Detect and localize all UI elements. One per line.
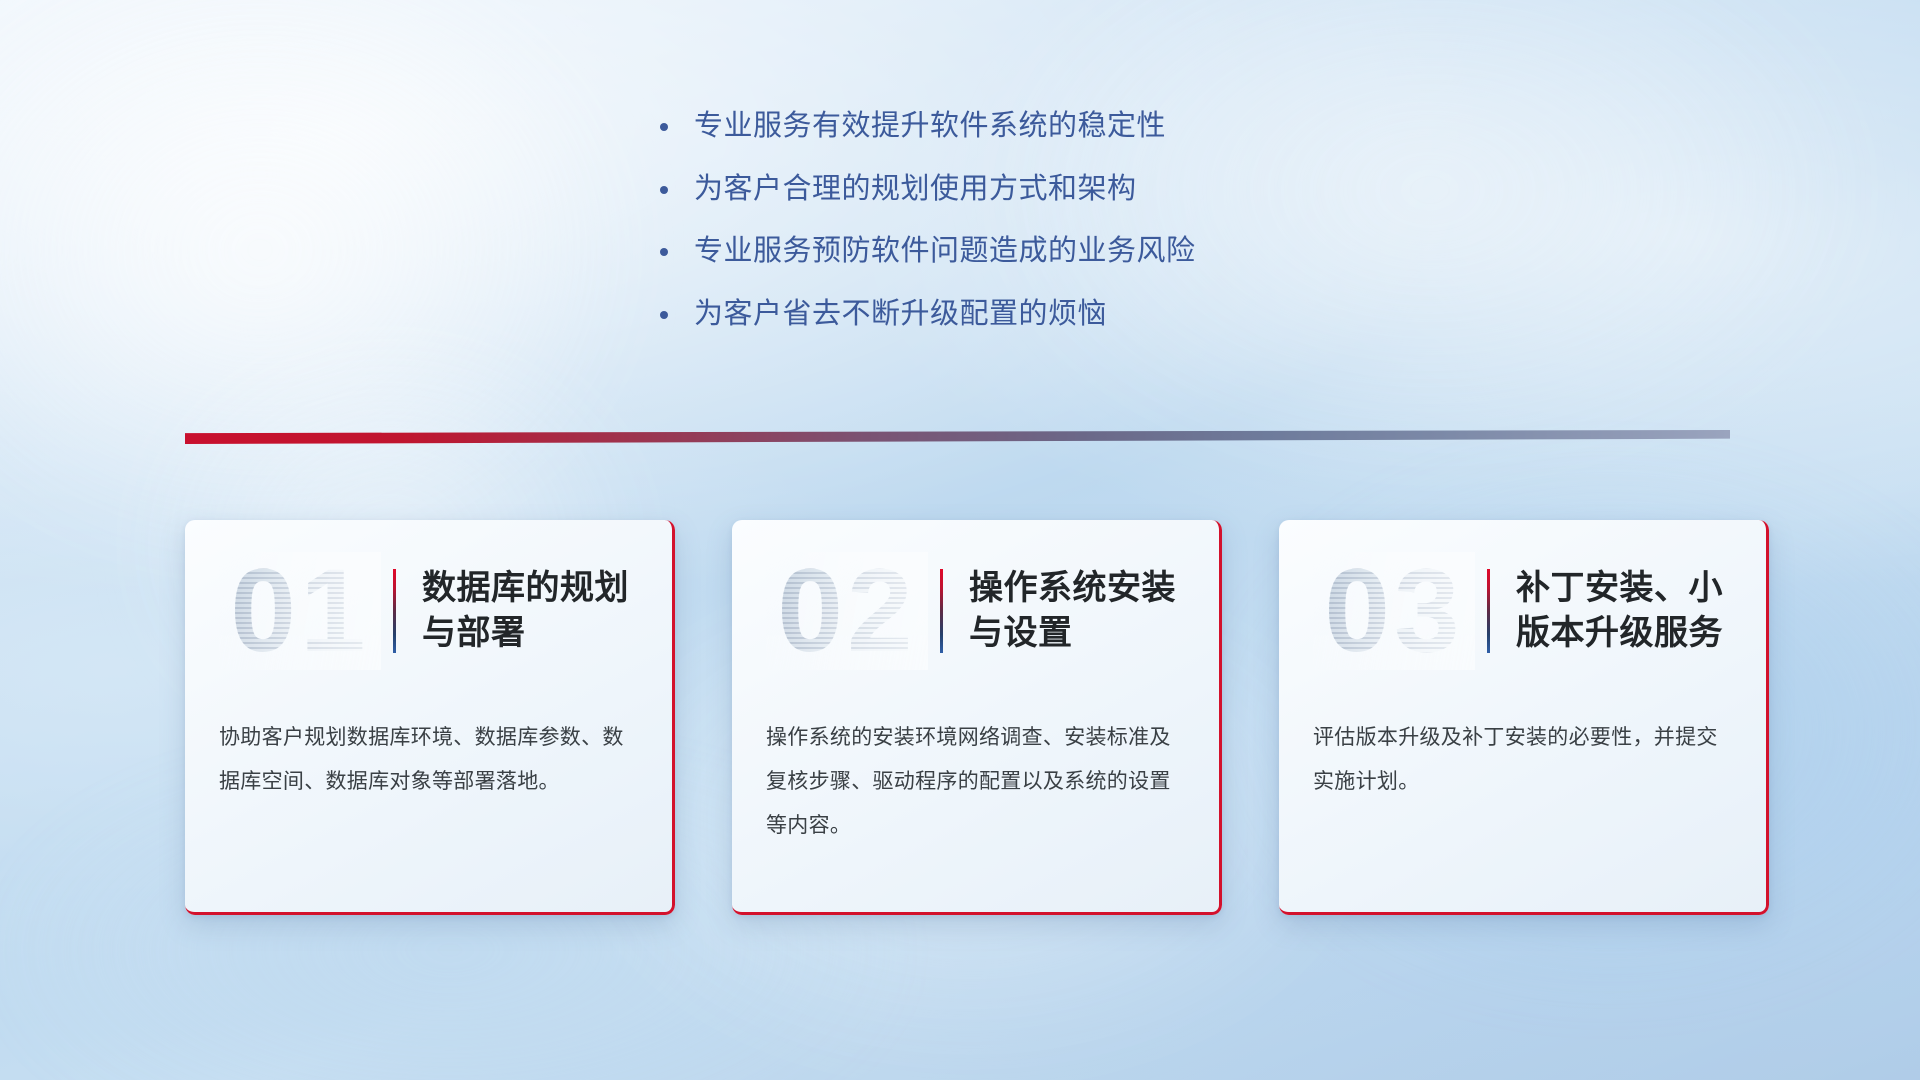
bullet-dot-icon [660, 311, 668, 319]
background-glow-top-left [0, 0, 640, 560]
card-divider-rule [940, 569, 943, 653]
list-item: 专业服务有效提升软件系统的稳定性 [660, 108, 1420, 145]
bullet-text: 专业服务预防软件问题造成的业务风险 [694, 233, 1420, 270]
divider-bar [185, 430, 1730, 444]
list-item: 为客户省去不断升级配置的烦恼 [660, 296, 1420, 333]
card-header: 03 补丁安装、小版本升级服务 [1279, 520, 1769, 702]
card-description: 协助客户规划数据库环境、数据库参数、数据库空间、数据库对象等部署落地。 [185, 702, 675, 804]
card-title: 操作系统安装与设置 [969, 566, 1192, 656]
card-divider-rule [1487, 569, 1490, 653]
card-number-badge: 02 [766, 552, 928, 670]
slide-canvas: 专业服务有效提升软件系统的稳定性 为客户合理的规划使用方式和架构 专业服务预防软… [0, 0, 1920, 1080]
service-card-03[interactable]: 03 补丁安装、小版本升级服务 评估版本升级及补丁安装的必要性，并提交实施计划。 [1279, 520, 1769, 915]
benefits-bullet-list: 专业服务有效提升软件系统的稳定性 为客户合理的规划使用方式和架构 专业服务预防软… [660, 108, 1420, 358]
service-card-02[interactable]: 02 操作系统安装与设置 操作系统的安装环境网络调查、安装标准及复核步骤、驱动程… [732, 520, 1222, 915]
list-item: 专业服务预防软件问题造成的业务风险 [660, 233, 1420, 270]
card-number-badge: 01 [219, 552, 381, 670]
card-title: 补丁安装、小版本升级服务 [1516, 566, 1739, 656]
card-description: 操作系统的安装环境网络调查、安装标准及复核步骤、驱动程序的配置以及系统的设置等内… [732, 702, 1222, 848]
bullet-dot-icon [660, 186, 668, 194]
card-header: 01 数据库的规划与部署 [185, 520, 675, 702]
card-divider-rule [393, 569, 396, 653]
bullet-text: 为客户省去不断升级配置的烦恼 [694, 296, 1420, 333]
list-item: 为客户合理的规划使用方式和架构 [660, 171, 1420, 208]
card-title: 数据库的规划与部署 [422, 566, 645, 656]
card-description: 评估版本升级及补丁安装的必要性，并提交实施计划。 [1279, 702, 1769, 804]
service-card-01[interactable]: 01 数据库的规划与部署 协助客户规划数据库环境、数据库参数、数据库空间、数据库… [185, 520, 675, 915]
section-divider [185, 430, 1730, 444]
bullet-dot-icon [660, 248, 668, 256]
service-card-group: 01 数据库的规划与部署 协助客户规划数据库环境、数据库参数、数据库空间、数据库… [185, 520, 1769, 915]
card-number-badge: 03 [1313, 552, 1475, 670]
bullet-text: 专业服务有效提升软件系统的稳定性 [694, 108, 1420, 145]
bullet-text: 为客户合理的规划使用方式和架构 [694, 171, 1420, 208]
bullet-dot-icon [660, 123, 668, 131]
card-header: 02 操作系统安装与设置 [732, 520, 1222, 702]
